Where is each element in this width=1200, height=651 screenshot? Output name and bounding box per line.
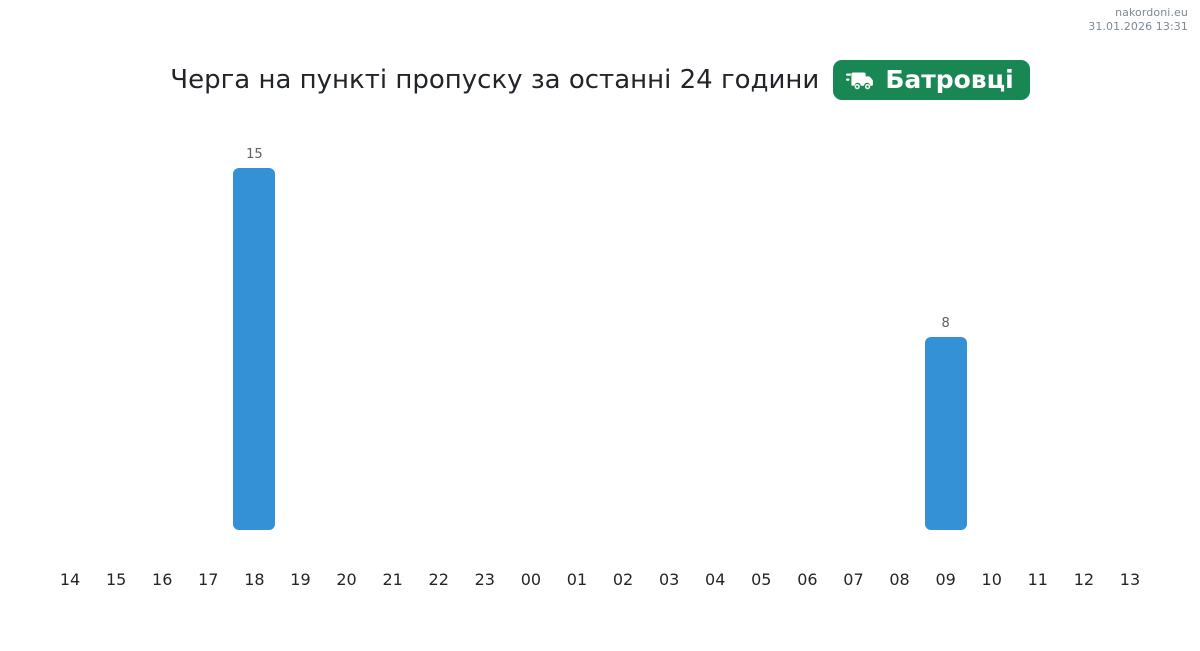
- x-axis-tick: 16: [139, 570, 185, 589]
- x-axis-tick: 19: [277, 570, 323, 589]
- bar-slot: [370, 120, 416, 530]
- x-axis-tick: 15: [93, 570, 139, 589]
- crossing-point-badge[interactable]: Батровці: [833, 60, 1029, 100]
- x-axis-tick: 09: [923, 570, 969, 589]
- x-axis-tick: 22: [416, 570, 462, 589]
- bar-slot: [1061, 120, 1107, 530]
- x-axis-tick: 20: [324, 570, 370, 589]
- x-axis-tick: 06: [784, 570, 830, 589]
- bar-slot: [93, 120, 139, 530]
- bar-slot: [784, 120, 830, 530]
- bar-slot: [277, 120, 323, 530]
- bar-slot: [600, 120, 646, 530]
- bar-slot: [185, 120, 231, 530]
- bar-slot: [416, 120, 462, 530]
- bar-slot: [877, 120, 923, 530]
- chart-bar[interactable]: [233, 168, 275, 530]
- x-axis-tick: 21: [370, 570, 416, 589]
- x-axis-tick: 13: [1107, 570, 1153, 589]
- bar-slot: [139, 120, 185, 530]
- chart-plot-area: 158: [47, 120, 1153, 530]
- crossing-point-label: Батровці: [885, 67, 1013, 92]
- bar-slot: 15: [231, 120, 277, 530]
- bar-chart: 158: [0, 120, 1200, 540]
- x-axis-tick: 18: [231, 570, 277, 589]
- x-axis-tick: 11: [1015, 570, 1061, 589]
- bar-slot: [554, 120, 600, 530]
- bar-slot: [47, 120, 93, 530]
- x-axis-tick: 00: [508, 570, 554, 589]
- bar-slot: [830, 120, 876, 530]
- x-axis-tick: 04: [692, 570, 738, 589]
- bar-slot: [462, 120, 508, 530]
- watermark: nakordoni.eu 31.01.2026 13:31: [1088, 6, 1188, 34]
- x-axis-tick: 07: [830, 570, 876, 589]
- bar-slot: [738, 120, 784, 530]
- x-axis-tick: 01: [554, 570, 600, 589]
- x-axis-tick: 14: [47, 570, 93, 589]
- bar-slot: [969, 120, 1015, 530]
- x-axis-tick: 12: [1061, 570, 1107, 589]
- bar-slot: [1107, 120, 1153, 530]
- x-axis-tick: 05: [738, 570, 784, 589]
- watermark-site: nakordoni.eu: [1088, 6, 1188, 20]
- x-axis-tick: 08: [877, 570, 923, 589]
- x-axis-tick: 02: [600, 570, 646, 589]
- chart-header: Черга на пункті пропуску за останні 24 г…: [0, 60, 1200, 100]
- bar-slot: [692, 120, 738, 530]
- chart-bar[interactable]: [925, 337, 967, 530]
- bar-slot: [1015, 120, 1061, 530]
- x-axis-tick: 03: [646, 570, 692, 589]
- x-axis-tick: 17: [185, 570, 231, 589]
- bar-slot: [646, 120, 692, 530]
- x-axis: 1415161718192021222300010203040506070809…: [47, 570, 1153, 594]
- page-title: Черга на пункті пропуску за останні 24 г…: [170, 65, 819, 95]
- watermark-timestamp: 31.01.2026 13:31: [1088, 20, 1188, 34]
- bar-slot: [508, 120, 554, 530]
- bar-value-label: 15: [246, 147, 263, 162]
- x-axis-tick: 10: [969, 570, 1015, 589]
- bar-value-label: 8: [941, 316, 949, 331]
- bar-slot: [324, 120, 370, 530]
- x-axis-tick: 23: [462, 570, 508, 589]
- truck-icon: [846, 68, 876, 92]
- bar-slot: 8: [923, 120, 969, 530]
